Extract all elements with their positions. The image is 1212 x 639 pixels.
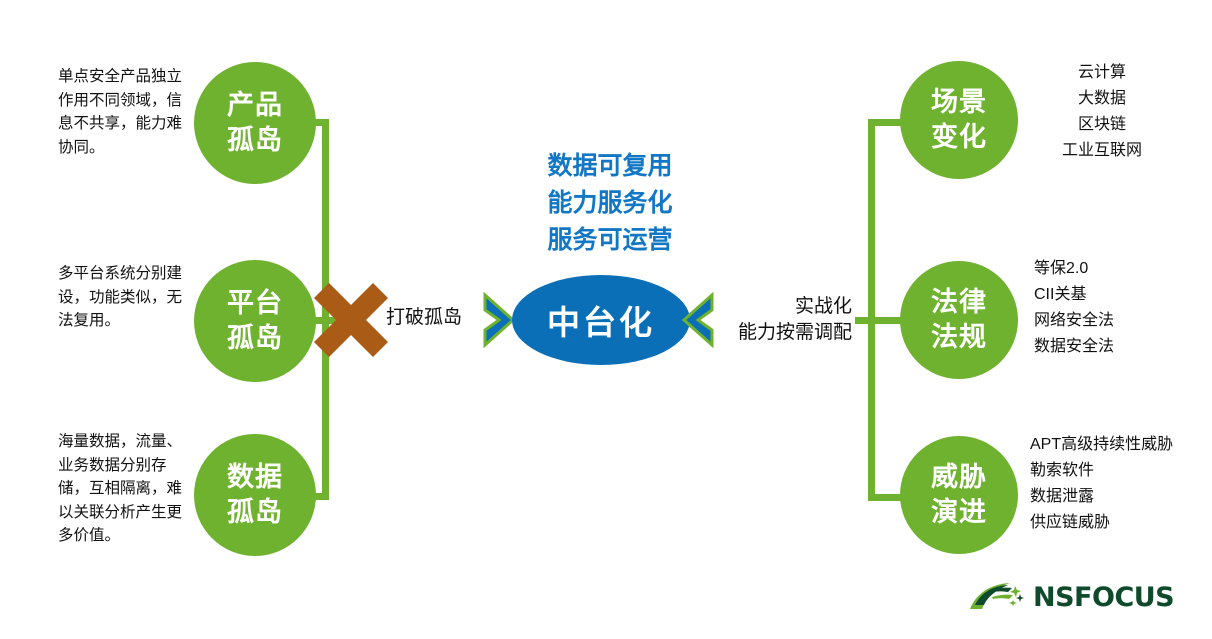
list-item: 数据泄露 [1030, 484, 1210, 510]
right-arrow-caption-line-1: 实战化 [706, 294, 852, 320]
node-scenario-change[interactable]: 场景 变化 [900, 61, 1018, 179]
list-item: 数据安全法 [1034, 334, 1204, 360]
nsfocus-swoosh-icon [968, 580, 1030, 614]
right-arrow-caption-line-2: 能力按需调配 [706, 320, 852, 346]
center-headline-line-1: 数据可复用 [490, 148, 730, 185]
left-arrow-caption-line-1: 打破孤岛 [386, 305, 486, 331]
break-silo-x-icon [303, 272, 399, 368]
diagram-canvas: 单点安全产品独立作用不同领域，信息不共享，能力难协同。 多平台系统分别建设，功能… [0, 0, 1212, 639]
node-threat-evolution[interactable]: 威胁 演进 [900, 436, 1018, 554]
list-item: 勒索软件 [1030, 458, 1210, 484]
node-scenario-change-line-1: 场景 [931, 85, 987, 120]
node-laws-regulations[interactable]: 法律 法规 [900, 261, 1018, 379]
node-laws-regulations-line-2: 法规 [931, 320, 987, 355]
node-platform-silo-line-2: 孤岛 [227, 321, 283, 356]
node-product-silo[interactable]: 产品 孤岛 [194, 62, 316, 184]
center-headline-line-3: 服务可运营 [490, 222, 730, 259]
node-platform-silo-line-1: 平台 [227, 286, 283, 321]
node-middle-platform[interactable]: 中台化 [512, 275, 690, 365]
right-bracket-vertical [868, 119, 875, 501]
left-arrow-caption: 打破孤岛 [386, 305, 486, 331]
scenario-change-list: 云计算 大数据 区块链 工业互联网 [1022, 60, 1182, 164]
node-product-silo-line-1: 产品 [227, 88, 283, 123]
node-data-silo[interactable]: 数据 孤岛 [194, 434, 316, 556]
nsfocus-logo: NSFOCUS [968, 580, 1174, 614]
nsfocus-wordmark: NSFOCUS [1033, 582, 1174, 613]
center-headline-line-2: 能力服务化 [490, 185, 730, 222]
left-chevron-icon [482, 292, 516, 348]
node-scenario-change-line-2: 变化 [931, 120, 987, 155]
product-silo-description: 单点安全产品独立作用不同领域，信息不共享，能力难协同。 [58, 65, 184, 159]
node-middle-platform-label: 中台化 [547, 296, 655, 344]
list-item: 区块链 [1022, 112, 1182, 138]
list-item: 供应链威胁 [1030, 510, 1210, 536]
node-laws-regulations-line-1: 法律 [931, 285, 987, 320]
list-item: 大数据 [1022, 86, 1182, 112]
list-item: 工业互联网 [1022, 138, 1182, 164]
data-silo-description: 海量数据，流量、业务数据分别存储，互相隔离，难以关联分析产生更多价值。 [58, 430, 184, 548]
list-item: CII关基 [1034, 282, 1204, 308]
list-item: APT高级持续性威胁 [1030, 432, 1210, 458]
list-item: 网络安全法 [1034, 308, 1204, 334]
center-headline: 数据可复用 能力服务化 服务可运营 [490, 148, 730, 259]
right-arrow-caption: 实战化 能力按需调配 [706, 294, 852, 346]
platform-silo-description: 多平台系统分别建设，功能类似，无法复用。 [58, 262, 184, 333]
list-item: 云计算 [1022, 60, 1182, 86]
node-threat-evolution-line-2: 演进 [931, 495, 987, 530]
node-threat-evolution-line-1: 威胁 [931, 460, 987, 495]
list-item: 等保2.0 [1034, 256, 1204, 282]
node-data-silo-line-1: 数据 [227, 460, 283, 495]
laws-regulations-list: 等保2.0 CII关基 网络安全法 数据安全法 [1034, 256, 1204, 360]
node-data-silo-line-2: 孤岛 [227, 495, 283, 530]
threat-evolution-list: APT高级持续性威胁 勒索软件 数据泄露 供应链威胁 [1030, 432, 1210, 536]
node-platform-silo[interactable]: 平台 孤岛 [194, 260, 316, 382]
right-chevron-icon [681, 292, 715, 348]
node-product-silo-line-2: 孤岛 [227, 123, 283, 158]
